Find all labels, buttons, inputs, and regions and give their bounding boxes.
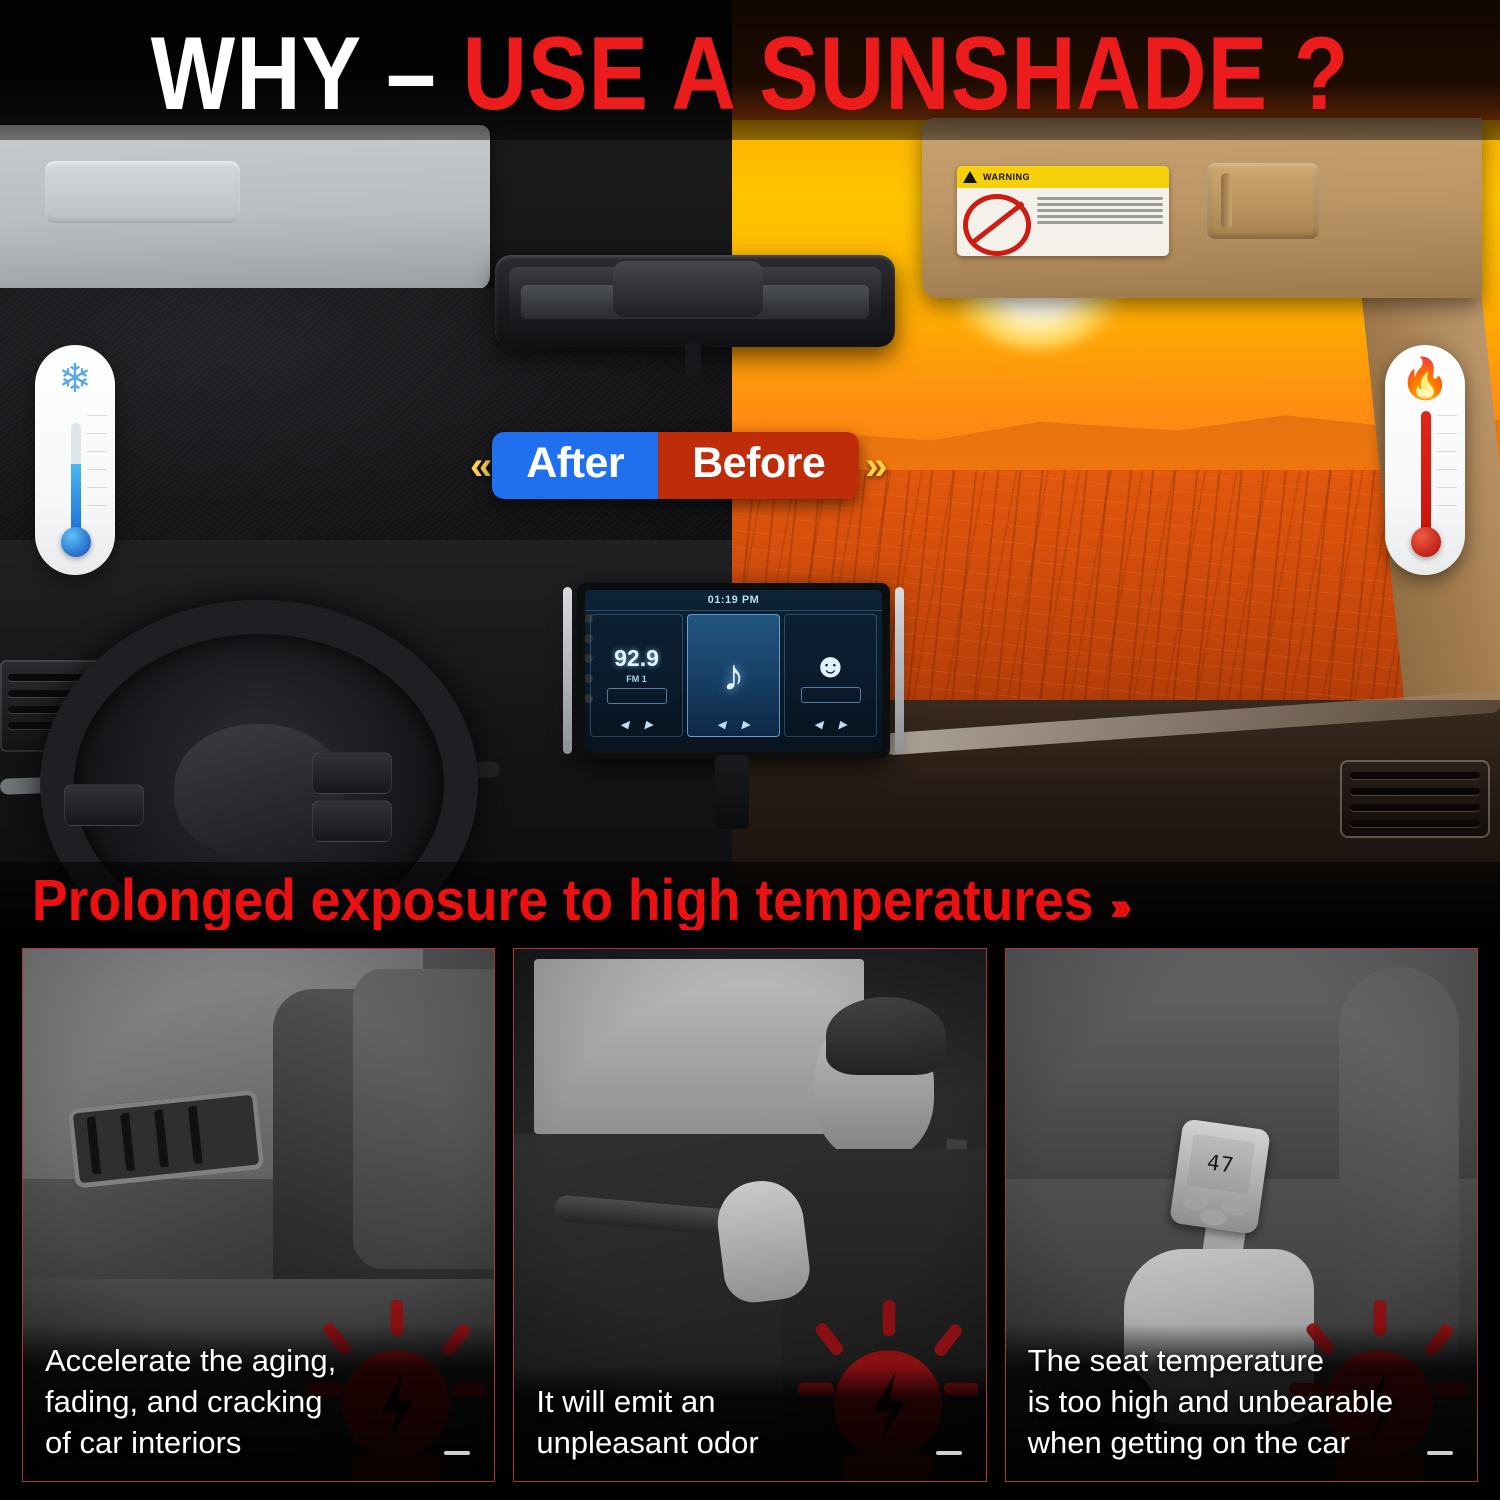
caption-end-dash bbox=[936, 1451, 962, 1455]
before-after-hero: WARNING bbox=[0, 0, 1500, 930]
visor-clip-left bbox=[60, 169, 74, 215]
thermometer-tube-right bbox=[1421, 411, 1431, 543]
before-after-badge: « After Before » bbox=[470, 432, 882, 499]
before-label: Before bbox=[658, 432, 859, 499]
radio-frequency: 92.9 bbox=[614, 647, 659, 670]
after-label: After bbox=[492, 432, 658, 499]
screen-bezel-left bbox=[563, 587, 572, 754]
warning-label: WARNING bbox=[957, 166, 1169, 256]
card-caption: Accelerate the aging, fading, and cracki… bbox=[45, 1340, 478, 1463]
rearview-mirror bbox=[495, 255, 895, 347]
card-seat-temperature: 47 The seat t bbox=[1005, 948, 1478, 1482]
visor-pocket-right bbox=[1207, 163, 1319, 239]
hot-thermometer: 🔥 bbox=[1385, 345, 1465, 575]
warning-label-lines bbox=[1037, 194, 1163, 256]
phone-controls[interactable]: ◀ ▶ bbox=[814, 718, 847, 731]
wheel-button-left bbox=[64, 784, 144, 826]
page-title-red: USE A SUNSHADE ? bbox=[462, 16, 1349, 132]
no-child-seat-icon bbox=[963, 194, 1031, 256]
radio-band: FM 1 bbox=[626, 674, 647, 684]
flame-icon: 🔥 bbox=[1385, 359, 1465, 399]
before-after-pill: After Before bbox=[492, 432, 859, 499]
caption-end-dash bbox=[444, 1451, 470, 1455]
phone-pane[interactable]: ☻ ◀ ▶ bbox=[784, 614, 877, 737]
thermometer-bulb-right bbox=[1411, 527, 1441, 557]
radio-next-icon[interactable]: ▶ bbox=[645, 718, 653, 731]
screen-mount-bracket bbox=[715, 755, 749, 829]
radio-pane[interactable]: 92.9 FM 1 ◀ ▶ bbox=[590, 614, 683, 737]
subtitle-text: Prolonged exposure to high temperatures bbox=[32, 868, 1093, 930]
sun-visor-left bbox=[0, 125, 490, 290]
radio-preset-chip[interactable] bbox=[607, 688, 667, 704]
infotainment-status-bar: 01:19 PM bbox=[585, 590, 882, 611]
card-unpleasant-odor: It will emit an unpleasant odor bbox=[513, 948, 986, 1482]
page-title-white: WHY – bbox=[151, 16, 463, 132]
screen-bezel-right bbox=[895, 587, 904, 754]
wheel-button-right-top bbox=[312, 752, 392, 794]
warning-label-text: WARNING bbox=[983, 172, 1030, 182]
warning-label-body bbox=[957, 188, 1169, 256]
thermometer-bulb-left bbox=[61, 527, 91, 557]
mirror-stem bbox=[685, 343, 701, 377]
warning-label-header: WARNING bbox=[957, 166, 1169, 188]
card-interior-aging: Accelerate the aging, fading, and cracki… bbox=[22, 948, 495, 1482]
page-title: WHY – USE A SUNSHADE ? bbox=[105, 22, 1395, 126]
person-icon: ☻ bbox=[813, 649, 849, 683]
thermometer-ticks-right bbox=[1437, 415, 1457, 535]
media-prev-icon[interactable]: ◀ bbox=[717, 718, 725, 731]
cold-thermometer: ❄ bbox=[35, 345, 115, 575]
chevron-left-icon: « bbox=[470, 446, 486, 486]
mirror-reflection-headrest bbox=[613, 261, 763, 317]
media-next-icon[interactable]: ▶ bbox=[742, 718, 750, 731]
music-note-icon: ♪ bbox=[723, 654, 745, 698]
card-caption: It will emit an unpleasant odor bbox=[536, 1381, 969, 1463]
media-pane[interactable]: ♪ ◀ ▶ bbox=[687, 614, 780, 737]
thermometer-ticks-left bbox=[87, 415, 107, 535]
subtitle-arrows-icon: ››› bbox=[1110, 885, 1125, 929]
subtitle: Prolonged exposure to high temperatures›… bbox=[32, 872, 1125, 930]
chevron-right-icon: » bbox=[865, 446, 881, 486]
infotainment-clock: 01:19 PM bbox=[708, 594, 760, 606]
phone-next-icon[interactable]: ▶ bbox=[839, 718, 847, 731]
radio-prev-icon[interactable]: ◀ bbox=[620, 718, 628, 731]
product-infographic: WARNING bbox=[0, 0, 1500, 1500]
infotainment-panes: 92.9 FM 1 ◀ ▶ ♪ ◀ ▶ bbox=[590, 614, 877, 737]
caption-end-dash bbox=[1427, 1451, 1453, 1455]
air-vent-right bbox=[1340, 760, 1490, 838]
media-controls[interactable]: ◀ ▶ bbox=[717, 718, 750, 731]
card-caption-overlay: Accelerate the aging, fading, and cracki… bbox=[23, 1324, 494, 1481]
consequence-cards: Accelerate the aging, fading, and cracki… bbox=[0, 930, 1500, 1500]
card-caption-overlay: The seat temperature is too high and unb… bbox=[1006, 1324, 1477, 1481]
snowflake-icon: ❄ bbox=[35, 359, 115, 399]
phone-chip[interactable] bbox=[801, 687, 861, 703]
infotainment-lcd: 01:19 PM 92.9 FM 1 ◀ ▶ bbox=[585, 590, 882, 751]
sun-visor-right: WARNING bbox=[922, 118, 1482, 298]
infotainment-screen[interactable]: 01:19 PM 92.9 FM 1 ◀ ▶ bbox=[577, 583, 890, 758]
warning-triangle-icon bbox=[963, 171, 977, 183]
wheel-button-right-bottom bbox=[312, 800, 392, 842]
phone-prev-icon[interactable]: ◀ bbox=[814, 718, 822, 731]
card-caption: The seat temperature is too high and unb… bbox=[1028, 1340, 1461, 1463]
radio-controls[interactable]: ◀ ▶ bbox=[620, 718, 653, 731]
thermometer-tube-left bbox=[71, 423, 81, 543]
card-caption-overlay: It will emit an unpleasant odor bbox=[514, 1365, 985, 1481]
